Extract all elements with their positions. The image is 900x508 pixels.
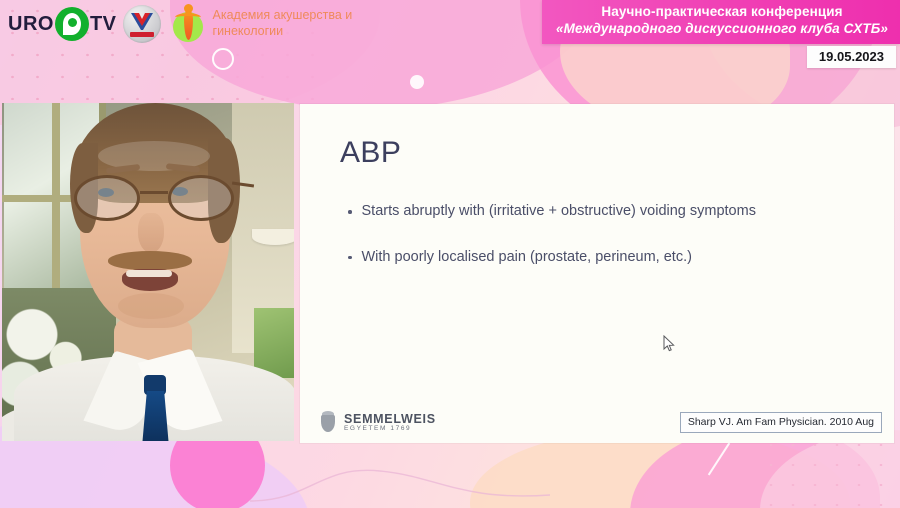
- decorative-dot-grid-bottom-right: [760, 435, 900, 508]
- russia-flag-mark-icon: [129, 12, 155, 32]
- glasses-bridge: [140, 191, 168, 194]
- urotv-leaf-icon: [55, 7, 89, 41]
- akademiya-figure-head: [184, 4, 193, 13]
- decorative-solid-dot: [410, 75, 424, 89]
- speaker-chin: [118, 293, 184, 319]
- bullet-dot-icon: [348, 210, 352, 214]
- logo-row: URO TV Академия акушерства и гинекологии: [8, 4, 368, 44]
- urotv-logo-text-right: TV: [90, 13, 117, 36]
- bullet-dot-icon: [348, 256, 352, 260]
- academy-label: Академия акушерства и гинекологии: [213, 8, 368, 39]
- crest-shield-shape: [321, 415, 335, 432]
- citation-box: Sharp VJ. Am Fam Physician. 2010 Aug: [680, 412, 882, 433]
- speaker-video-frame: [2, 103, 294, 441]
- bullet-text: Starts abruptly with (irritative + obstr…: [362, 202, 756, 222]
- conference-title-line2: «Международного дискуссионного клуба СХТ…: [556, 21, 888, 38]
- decorative-curve-line: [250, 455, 550, 505]
- decorative-swoosh-line: [708, 443, 730, 476]
- speaker-teeth: [126, 270, 172, 277]
- slide-canvas[interactable]: ABP Starts abruptly with (irritative + o…: [300, 104, 894, 443]
- semmelweis-wordmark: SEMMELWEIS EGYETEM 1769: [344, 413, 436, 433]
- semmelweis-logo: SEMMELWEIS EGYETEM 1769: [318, 411, 436, 435]
- conference-title-line1: Научно-практическая конференция: [556, 4, 888, 21]
- russia-badge-icon: [123, 5, 161, 43]
- presentation-viewer: URO TV Академия акушерства и гинекологии…: [0, 0, 900, 508]
- conference-title-banner: Научно-практическая конференция «Междуна…: [542, 0, 900, 44]
- speaker-nose: [138, 213, 164, 253]
- urotv-logo-text-left: URO: [8, 13, 54, 36]
- speaker-video-tile[interactable]: [2, 103, 294, 441]
- slide-bullet-list: Starts abruptly with (irritative + obstr…: [348, 202, 878, 293]
- russia-badge-ribbon: [130, 32, 154, 37]
- bullet-item: With poorly localised pain (prostate, pe…: [348, 248, 878, 268]
- bullet-text: With poorly localised pain (prostate, pe…: [362, 248, 692, 268]
- date-badge: 19.05.2023: [807, 46, 896, 68]
- slide-title: ABP: [340, 136, 401, 170]
- glasses-lens-left: [74, 175, 140, 221]
- akademiya-figure-arms: [175, 13, 201, 22]
- bullet-item: Starts abruptly with (irritative + obstr…: [348, 202, 878, 222]
- akademiya-emblem-icon: [167, 4, 207, 44]
- decorative-ring-dot: [212, 48, 234, 70]
- semmelweis-subtitle: EGYETEM 1769: [344, 426, 436, 433]
- urotv-logo: URO TV: [8, 7, 117, 41]
- glasses-lens-right: [168, 175, 234, 221]
- video-lamp: [252, 229, 294, 245]
- speaker-mustache: [108, 251, 192, 270]
- semmelweis-crest-icon: [318, 411, 338, 435]
